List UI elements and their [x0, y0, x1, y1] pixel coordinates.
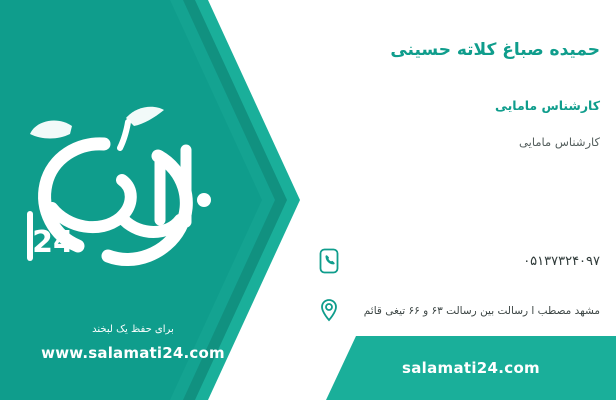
- person-name: حمیده صباغ کلاته حسینی: [316, 40, 600, 60]
- footer-bar: salamati24.com: [326, 336, 616, 400]
- logo-tagline: برای حفظ یک لبخند: [8, 324, 258, 335]
- contact-phone[interactable]: ۰۵۱۳۷۳۲۴۰۹۷: [316, 246, 600, 276]
- business-card: 24 برای حفظ یک لبخند www.salamati24.com …: [0, 0, 616, 400]
- footer-website[interactable]: salamati24.com: [402, 359, 540, 377]
- logo-mark-icon: 24: [8, 96, 248, 281]
- phone-number: ۰۵۱۳۷۳۲۴۰۹۷: [342, 254, 600, 269]
- person-role-secondary: کارشناس مامایی: [316, 135, 600, 149]
- person-role-primary: کارشناس مامایی: [316, 98, 600, 113]
- contact-address[interactable]: مشهد مصطب ا رسالت بین رسالت ۶۳ و ۶۶ تیغی…: [316, 296, 600, 326]
- logo-website[interactable]: www.salamati24.com: [8, 344, 258, 362]
- logo-badge-number: 24: [32, 225, 74, 260]
- logo: 24 برای حفظ یک لبخند www.salamati24.com: [8, 96, 248, 271]
- address-text: مشهد مصطب ا رسالت بین رسالت ۶۳ و ۶۶ تیغی…: [342, 304, 600, 319]
- location-pin-icon: [316, 296, 342, 326]
- phone-icon: [316, 246, 342, 276]
